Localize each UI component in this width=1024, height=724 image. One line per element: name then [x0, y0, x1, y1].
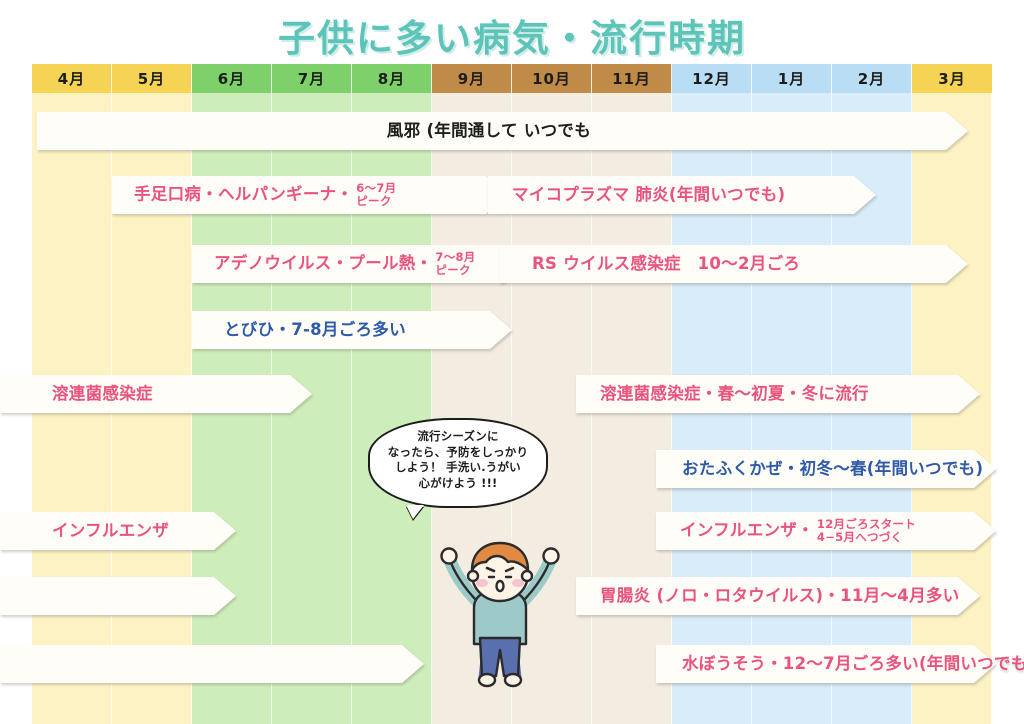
- arrow-label-text: インフルエンザ・: [680, 521, 814, 540]
- month-cell-1[interactable]: 4月: [32, 64, 112, 93]
- arrow-label-note: 6〜7月 ピーク: [356, 182, 396, 208]
- illness-arrow-rs-virus[interactable]: RS ウイルス感染症 10〜2月ごろ: [500, 245, 968, 283]
- month-label: 9月: [458, 68, 485, 89]
- arrow-label-note: 12月ごろスタート 4−5月へつづく: [817, 518, 916, 544]
- month-cell-2[interactable]: 5月: [112, 64, 192, 93]
- month-cell-4[interactable]: 7月: [272, 64, 352, 93]
- arrow-label-text: とびひ・7-8月ごろ多い: [224, 320, 406, 339]
- month-cell-5[interactable]: 8月: [352, 64, 432, 93]
- illness-arrow-mizubousou[interactable]: 水ぼうそう・12〜7月ごろ多い(年間いつでも): [656, 645, 996, 683]
- month-label: 7月: [298, 68, 325, 89]
- child-illustration-svg: [430, 530, 570, 690]
- arrow-label-text: マイコプラズマ 肺炎(年間いつでも): [512, 185, 785, 204]
- illness-arrow-kaze[interactable]: 風邪 (年間通して いつでも: [37, 112, 968, 150]
- illness-arrow-tefukuchi[interactable]: 手足口病・ヘルパンギーナ・6〜7月 ピーク: [112, 176, 508, 214]
- arrow-label-text: 溶連菌感染症・春〜初夏・冬に流行: [600, 384, 869, 403]
- month-cell-10[interactable]: 1月: [752, 64, 832, 93]
- month-header-row: 4月5月6月7月8月9月10月11月12月1月2月3月: [32, 64, 992, 93]
- month-cell-12[interactable]: 3月: [912, 64, 992, 93]
- month-label: 12月: [692, 68, 731, 89]
- child-illustration: [430, 530, 570, 690]
- illness-arrow-ichouen[interactable]: 胃腸炎 (ノロ・ロタウイルス)・11月〜4月多い: [576, 577, 980, 615]
- illness-arrow-ichouen-cont[interactable]: [0, 577, 236, 615]
- illness-arrow-youren-left[interactable]: 溶連菌感染症: [0, 375, 312, 413]
- month-label: 1月: [778, 68, 805, 89]
- month-label: 10月: [532, 68, 571, 89]
- arrow-label-text: アデノウイルス・プール熱・: [214, 254, 432, 273]
- arrow-head-icon: [946, 112, 968, 150]
- month-cell-9[interactable]: 12月: [672, 64, 752, 93]
- arrow-label: 水ぼうそう・12〜7月ごろ多い(年間いつでも): [682, 655, 1024, 672]
- arrow-body: [0, 577, 214, 615]
- arrow-head-icon: [402, 645, 424, 683]
- arrow-label: インフルエンザ・12月ごろスタート 4−5月へつづく: [680, 518, 916, 544]
- arrow-label-text: 手足口病・ヘルパンギーナ・: [134, 185, 353, 204]
- month-label: 5月: [138, 68, 165, 89]
- speech-bubble-tail: [406, 505, 424, 519]
- arrow-label: とびひ・7-8月ごろ多い: [224, 321, 406, 338]
- arrow-head-icon: [854, 176, 876, 214]
- arrow-label: 胃腸炎 (ノロ・ロタウイルス)・11月〜4月多い: [600, 587, 959, 604]
- month-label: 3月: [938, 68, 965, 89]
- month-cell-11[interactable]: 2月: [832, 64, 912, 93]
- arrow-head-icon: [958, 375, 980, 413]
- illness-arrow-mizubousou-cont[interactable]: [0, 645, 424, 683]
- illness-arrow-tobihi[interactable]: とびひ・7-8月ごろ多い: [192, 311, 512, 349]
- arrow-label: マイコプラズマ 肺炎(年間いつでも): [512, 186, 785, 203]
- month-cell-6[interactable]: 9月: [432, 64, 512, 93]
- month-cell-7[interactable]: 10月: [512, 64, 592, 93]
- arrow-head-icon: [974, 512, 996, 550]
- arrow-label: RS ウイルス感染症 10〜2月ごろ: [532, 255, 800, 272]
- arrow-label-text: おたふくかぜ・初冬〜春(年間いつでも): [682, 459, 983, 478]
- arrow-label: インフルエンザ: [52, 522, 169, 539]
- illness-arrow-adenovirus[interactable]: アデノウイルス・プール熱・7〜8月 ピーク: [192, 245, 524, 283]
- arrow-label-text: 胃腸炎 (ノロ・ロタウイルス)・11月〜4月多い: [600, 586, 959, 605]
- arrow-label: 風邪 (年間通して いつでも: [387, 122, 591, 139]
- arrow-label: おたふくかぜ・初冬〜春(年間いつでも): [682, 460, 983, 477]
- arrow-label-text: 溶連菌感染症: [52, 384, 153, 403]
- infographic-board: 子供に多い病気・流行時期 4月5月6月7月8月9月10月11月12月1月2月3月…: [0, 0, 1024, 724]
- month-label: 11月: [612, 68, 651, 89]
- arrow-label-note: 7〜8月 ピーク: [435, 251, 475, 277]
- arrow-head-icon: [946, 245, 968, 283]
- arrow-label: 溶連菌感染症: [52, 385, 153, 402]
- page-title: 子供に多い病気・流行時期: [0, 8, 1024, 62]
- arrow-label-text: 風邪 (年間通して いつでも: [387, 121, 591, 140]
- arrow-head-icon: [290, 375, 312, 413]
- arrow-label-text: RS ウイルス感染症 10〜2月ごろ: [532, 254, 800, 273]
- month-label: 4月: [58, 68, 85, 89]
- arrow-label: 溶連菌感染症・春〜初夏・冬に流行: [600, 385, 869, 402]
- month-label: 2月: [858, 68, 885, 89]
- month-label: 6月: [218, 68, 245, 89]
- arrow-body: [0, 645, 402, 683]
- speech-bubble-text: 流行シーズンに なったら、予防をしっかり しよう！ 手洗い.うがい 心がけよう …: [382, 429, 534, 492]
- speech-bubble: 流行シーズンに なったら、予防をしっかり しよう！ 手洗い.うがい 心がけよう …: [368, 418, 548, 508]
- illness-arrow-influenza-left[interactable]: インフルエンザ: [0, 512, 236, 550]
- arrow-label: 手足口病・ヘルパンギーナ・6〜7月 ピーク: [134, 182, 396, 208]
- arrow-head-icon: [214, 577, 236, 615]
- arrow-head-icon: [214, 512, 236, 550]
- arrow-label: アデノウイルス・プール熱・7〜8月 ピーク: [214, 251, 476, 277]
- illness-arrow-youren-right[interactable]: 溶連菌感染症・春〜初夏・冬に流行: [576, 375, 980, 413]
- illness-arrow-influenza-right[interactable]: インフルエンザ・12月ごろスタート 4−5月へつづく: [656, 512, 996, 550]
- arrow-label-text: インフルエンザ: [52, 521, 169, 540]
- month-cell-3[interactable]: 6月: [192, 64, 272, 93]
- month-cell-8[interactable]: 11月: [592, 64, 672, 93]
- month-label: 8月: [378, 68, 405, 89]
- arrow-head-icon: [490, 311, 512, 349]
- arrow-label-text: 水ぼうそう・12〜7月ごろ多い(年間いつでも): [682, 654, 1024, 673]
- illness-arrow-otafuku[interactable]: おたふくかぜ・初冬〜春(年間いつでも): [656, 450, 996, 488]
- arrow-head-icon: [958, 577, 980, 615]
- illness-arrow-mycoplasma[interactable]: マイコプラズマ 肺炎(年間いつでも): [488, 176, 876, 214]
